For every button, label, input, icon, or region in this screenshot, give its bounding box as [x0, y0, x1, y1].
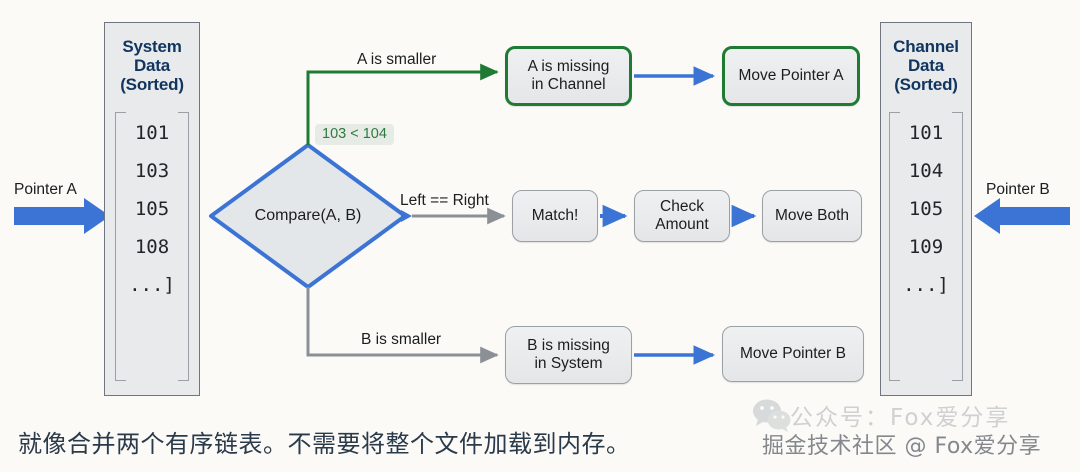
node-match[interactable]: Match!	[512, 190, 598, 242]
node-a-missing-in-channel[interactable]: A is missing in Channel	[505, 46, 632, 106]
node-label: B is missing in System	[521, 337, 616, 373]
bracket-close-icon	[178, 112, 189, 381]
system-data-list: 101 103 105 108 ...]	[115, 112, 189, 395]
pointer-b-label: Pointer B	[986, 181, 1050, 199]
node-label: Move Pointer B	[734, 345, 852, 363]
edge-label-a-smaller: A is smaller	[357, 51, 436, 69]
channel-data-panel: Channel Data (Sorted) 101 104 105 109 ..…	[880, 22, 972, 396]
watermark-bottom: 掘金技术社区 @ Fox爱分享	[762, 428, 1041, 460]
node-move-pointer-a[interactable]: Move Pointer A	[722, 46, 860, 106]
decision-label: Compare(A, B)	[211, 145, 405, 287]
list-item: 108	[135, 236, 169, 258]
list-item: 109	[909, 236, 943, 258]
list-item: 101	[135, 122, 169, 144]
list-item: ...]	[129, 274, 175, 296]
list-item: 103	[135, 160, 169, 182]
list-item: ...]	[903, 274, 949, 296]
node-label: Match!	[526, 207, 585, 225]
list-item: 105	[909, 198, 943, 220]
node-label: A is missing in Channel	[522, 58, 616, 94]
caption-text: 就像合并两个有序链表。不需要将整个文件加载到内存。	[18, 424, 631, 459]
node-check-amount[interactable]: Check Amount	[634, 190, 730, 242]
system-data-title: System Data (Sorted)	[120, 37, 184, 94]
node-b-missing-in-system[interactable]: B is missing in System	[505, 326, 632, 384]
wechat-logo-icon	[752, 398, 792, 432]
channel-data-list: 101 104 105 109 ...]	[889, 112, 963, 395]
pointer-a-label: Pointer A	[14, 181, 77, 199]
decision-node-compare[interactable]: Compare(A, B)	[211, 145, 405, 287]
condition-badge: 103 < 104	[315, 124, 394, 145]
channel-data-title: Channel Data (Sorted)	[893, 37, 959, 94]
list-item: 104	[909, 160, 943, 182]
pointer-b-arrow	[974, 198, 1070, 234]
edge-label-left-equals-right: Left == Right	[400, 192, 489, 210]
pointer-a-arrow	[14, 198, 110, 234]
node-label: Check Amount	[649, 198, 714, 234]
node-move-both[interactable]: Move Both	[762, 190, 862, 242]
node-label: Move Pointer A	[732, 67, 849, 85]
bracket-open-icon	[889, 112, 900, 381]
list-item: 105	[135, 198, 169, 220]
system-data-panel: System Data (Sorted) 101 103 105 108 ...…	[104, 22, 200, 396]
node-move-pointer-b[interactable]: Move Pointer B	[722, 326, 864, 382]
node-label: Move Both	[769, 207, 855, 225]
watermark-top: 公众号：Fox爱分享	[790, 398, 1010, 432]
edge-label-b-smaller: B is smaller	[361, 331, 441, 349]
list-item: 101	[909, 122, 943, 144]
bracket-close-icon	[952, 112, 963, 381]
bracket-open-icon	[115, 112, 126, 381]
